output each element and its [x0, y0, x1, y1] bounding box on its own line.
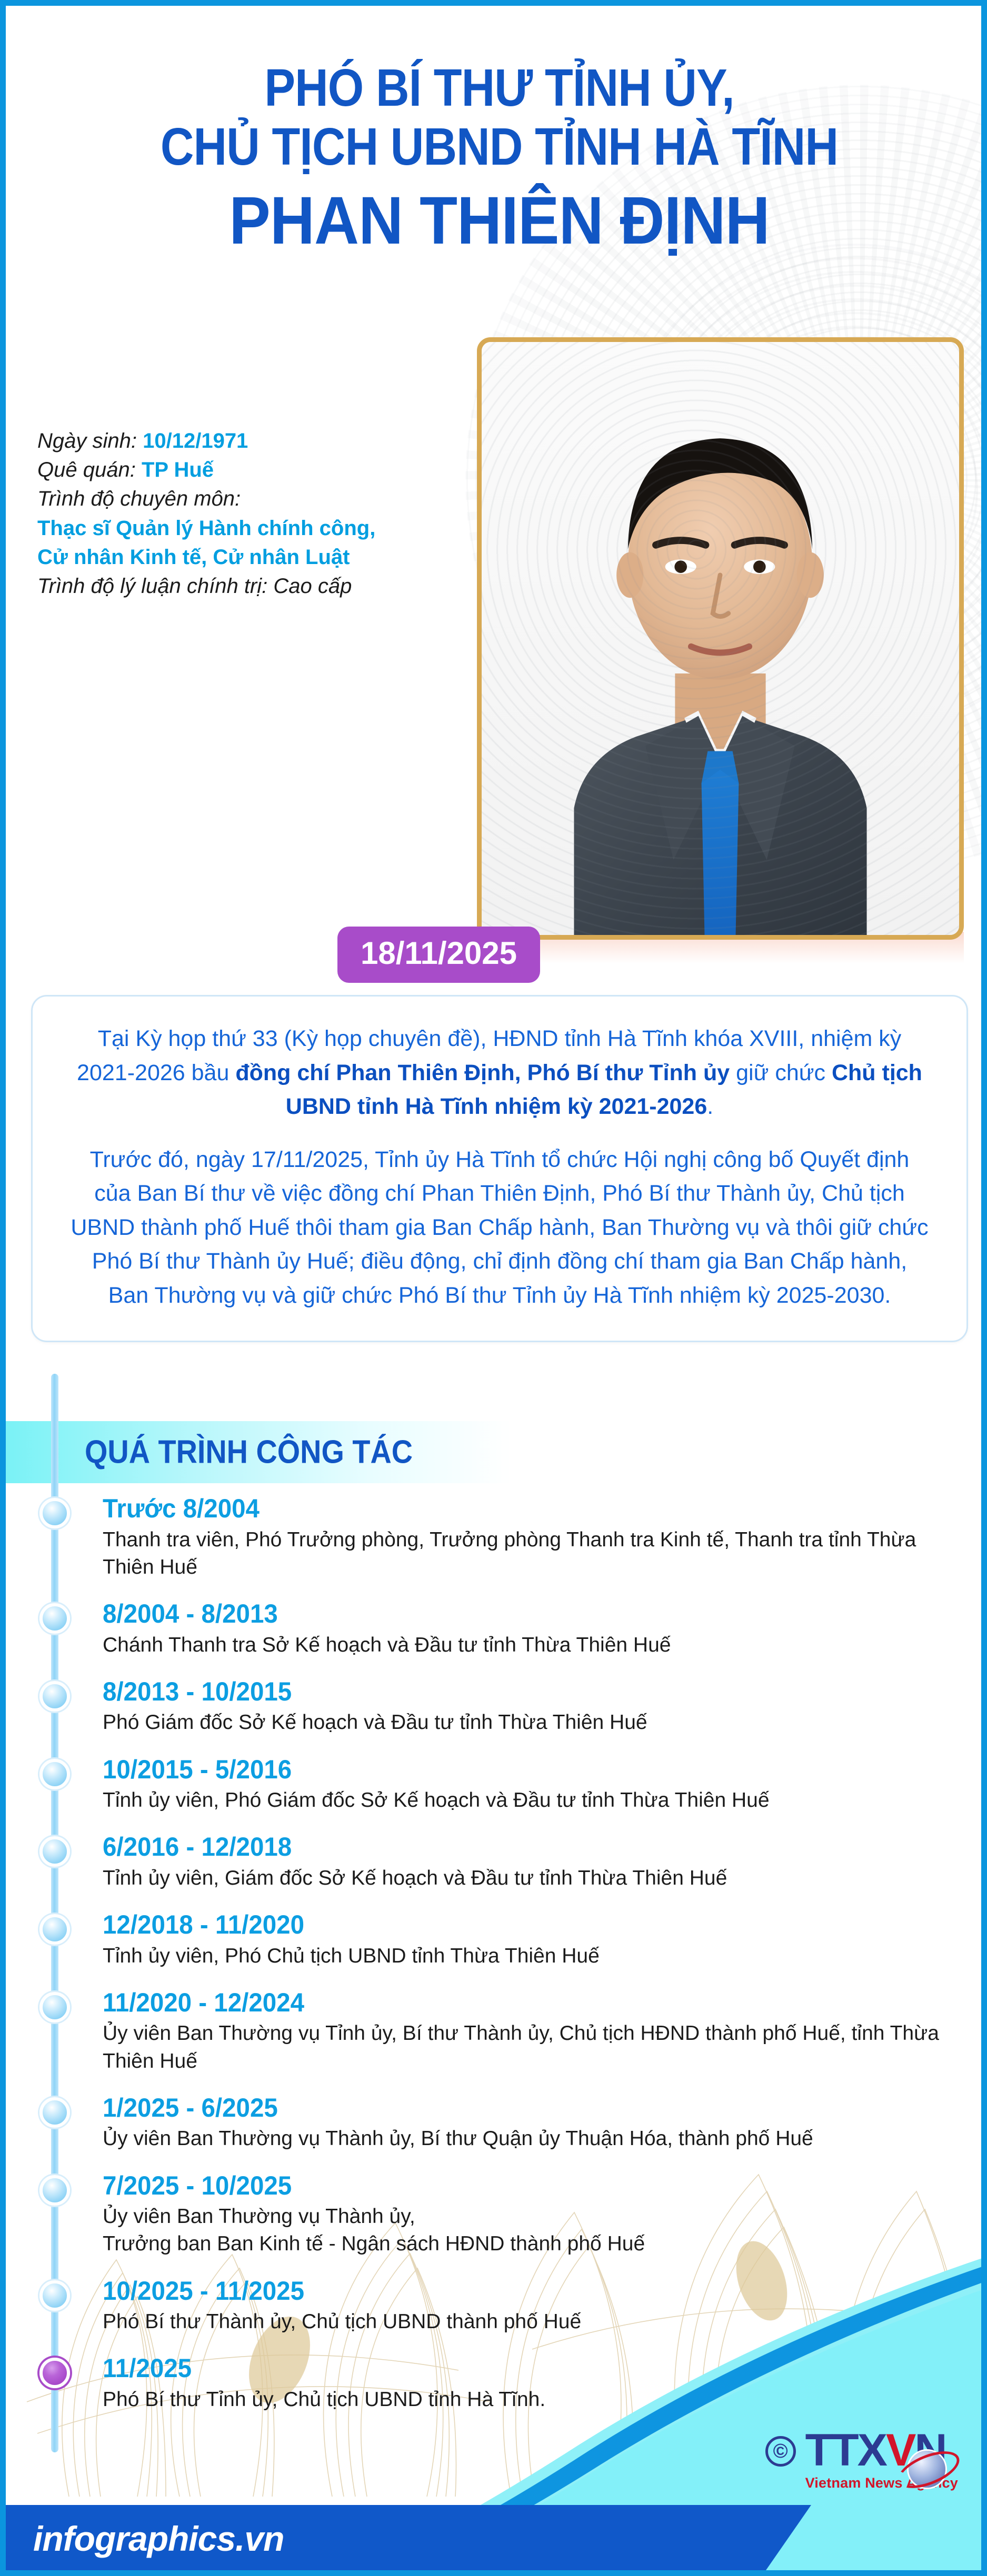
- statement-paragraph-2: Trước đó, ngày 17/11/2025, Tỉnh ủy Hà Tĩ…: [69, 1143, 930, 1313]
- bio-hometown-value: TP Huế: [142, 458, 214, 481]
- bio-hometown-label: Quê quán:: [37, 458, 136, 481]
- timeline-item-date: 8/2013 - 10/2015: [103, 1677, 921, 1707]
- statement-p1-mid: giữ chức: [730, 1060, 832, 1085]
- timeline-item: 10/2025 - 11/2025Phó Bí thư Thành ủy, Ch…: [37, 2276, 964, 2336]
- timeline-item-description: Phó Bí thư Thành ủy, Chủ tịch UBND thành…: [103, 2308, 945, 2336]
- timeline-item-description: Tỉnh ủy viên, Giám đốc Sở Kế hoạch và Đầ…: [103, 1865, 945, 1892]
- timeline-item-date: 7/2025 - 10/2025: [103, 2171, 921, 2201]
- timeline-item: 10/2015 - 5/2016Tỉnh ủy viên, Phó Giám đ…: [37, 1755, 964, 1815]
- timeline-dot-icon: [39, 1836, 70, 1867]
- timeline-item-date: 10/2015 - 5/2016: [103, 1755, 921, 1785]
- bio-birth-row: Ngày sinh: 10/12/1971: [37, 427, 480, 456]
- ttxvn-logo-block: TTXVN Vietnam News Agency: [805, 2428, 958, 2491]
- person-name-title: PHAN THIÊN ĐỊNH: [45, 186, 953, 256]
- bio-education-value-line1: Thạc sĩ Quản lý Hành chính công,: [37, 514, 480, 543]
- statement-p1-post: .: [707, 1094, 713, 1119]
- bio-hometown-row: Quê quán: TP Huế: [37, 456, 480, 485]
- timeline-item-description: Chánh Thanh tra Sở Kế hoạch và Đầu tư tỉ…: [103, 1632, 945, 1659]
- timeline-item-date: 6/2016 - 12/2018: [103, 1832, 921, 1863]
- date-badge-value: 18/11/2025: [361, 935, 517, 971]
- bio-political-label: Trình độ lý luận chính trị:: [37, 575, 267, 598]
- bio-birth-label: Ngày sinh:: [37, 429, 137, 452]
- timeline-item-date: 8/2004 - 8/2013: [103, 1599, 921, 1629]
- bio-education-value-line2: Cử nhân Kinh tế, Cử nhân Luật: [37, 543, 480, 572]
- timeline-dot-icon: [39, 1992, 70, 2022]
- timeline-dot-icon: [39, 1759, 70, 1789]
- timeline-item-date: Trước 8/2004: [103, 1494, 921, 1524]
- timeline-dot-icon: [39, 2175, 70, 2206]
- timeline-item-description: Tỉnh ủy viên, Phó Chủ tịch UBND tỉnh Thừ…: [103, 1943, 945, 1970]
- statement-card: Tại Kỳ họp thứ 33 (Kỳ họp chuyên đề), HĐ…: [31, 995, 968, 1342]
- portrait-photo: [477, 337, 964, 940]
- timeline-item: 8/2013 - 10/2015Phó Giám đốc Sở Kế hoạch…: [37, 1677, 964, 1737]
- timeline-item-description: Tỉnh ủy viên, Phó Giám đốc Sở Kế hoạch v…: [103, 1787, 945, 1814]
- statement-paragraph-1: Tại Kỳ họp thứ 33 (Kỳ họp chuyên đề), HĐ…: [69, 1022, 930, 1124]
- timeline-item: 6/2016 - 12/2018Tỉnh ủy viên, Giám đốc S…: [37, 1832, 964, 1892]
- timeline-dot-icon: [39, 2358, 70, 2388]
- timeline-item-description: Thanh tra viên, Phó Trưởng phòng, Trưởng…: [103, 1526, 945, 1582]
- portrait-illustration-icon: [482, 342, 959, 935]
- timeline-item: 12/2018 - 11/2020Tỉnh ủy viên, Phó Chủ t…: [37, 1910, 964, 1970]
- timeline-item: 11/2020 - 12/2024Ủy viên Ban Thường vụ T…: [37, 1988, 964, 2075]
- date-badge: 18/11/2025: [337, 927, 540, 983]
- timeline-item-description: Ủy viên Ban Thường vụ Thành ủy,Trưởng ba…: [103, 2203, 945, 2258]
- bio-birth-value: 10/12/1971: [143, 429, 248, 452]
- timeline-item: 7/2025 - 10/2025Ủy viên Ban Thường vụ Th…: [37, 2171, 964, 2258]
- bio-political-value: Cao cấp: [273, 575, 352, 598]
- timeline-item-description: Ủy viên Ban Thường vụ Tỉnh ủy, Bí thư Th…: [103, 2020, 945, 2075]
- timeline-item-date: 11/2025: [103, 2353, 921, 2384]
- copyright-icon: ©: [765, 2436, 796, 2467]
- ttxvn-ttx: TTX: [805, 2425, 886, 2476]
- header: PHÓ BÍ THƯ TỈNH ỦY, CHỦ TỊCH UBND TỈNH H…: [6, 58, 987, 256]
- infographic-page: PHÓ BÍ THƯ TỈNH ỦY, CHỦ TỊCH UBND TỈNH H…: [0, 0, 987, 2576]
- timeline-item-date: 12/2018 - 11/2020: [103, 1910, 921, 1940]
- timeline-dot-icon: [39, 1603, 70, 1634]
- timeline-item: Trước 8/2004Thanh tra viên, Phó Trưởng p…: [37, 1494, 964, 1581]
- timeline-dot-icon: [39, 2280, 70, 2311]
- bio-block: Ngày sinh: 10/12/1971 Quê quán: TP Huế T…: [37, 427, 480, 601]
- page-title-line1: PHÓ BÍ THƯ TỈNH ỦY,: [65, 58, 934, 117]
- timeline-dot-icon: [39, 1681, 70, 1712]
- statement-p1-bold1: đồng chí Phan Thiên Định, Phó Bí thư Tỉn…: [235, 1060, 730, 1085]
- site-logo-text: infographics.vn: [33, 2519, 284, 2559]
- bio-political-row: Trình độ lý luận chính trị: Cao cấp: [37, 572, 480, 601]
- timeline-item-date: 10/2025 - 11/2025: [103, 2276, 921, 2307]
- timeline-item-date: 1/2025 - 6/2025: [103, 2093, 921, 2124]
- timeline-dot-icon: [39, 1914, 70, 1945]
- timeline-item-description: Phó Bí thư Tỉnh ủy, Chủ tịch UBND tỉnh H…: [103, 2386, 945, 2413]
- career-timeline: Trước 8/2004Thanh tra viên, Phó Trưởng p…: [37, 1374, 964, 2431]
- footer-bar: infographics.vn: [6, 2505, 987, 2570]
- timeline-item-date: 11/2020 - 12/2024: [103, 1988, 921, 2018]
- timeline-dot-icon: [39, 2097, 70, 2128]
- bio-education-label: Trình độ chuyên môn:: [37, 485, 480, 514]
- timeline-dot-icon: [39, 1498, 70, 1528]
- timeline-item-description: Phó Giám đốc Sở Kế hoạch và Đầu tư tỉnh …: [103, 1709, 945, 1736]
- timeline-item: 11/2025Phó Bí thư Tỉnh ủy, Chủ tịch UBND…: [37, 2353, 964, 2413]
- timeline-item: 1/2025 - 6/2025Ủy viên Ban Thường vụ Thà…: [37, 2093, 964, 2153]
- timeline-item-description: Ủy viên Ban Thường vụ Thành ủy, Bí thư Q…: [103, 2125, 945, 2152]
- timeline-item: 8/2004 - 8/2013Chánh Thanh tra Sở Kế hoạ…: [37, 1599, 964, 1659]
- page-title-line2: CHỦ TỊCH UBND TỈNH HÀ TĨNH: [65, 117, 934, 176]
- ttxvn-logo: © TTXVN Vietnam News Agency: [765, 2428, 958, 2491]
